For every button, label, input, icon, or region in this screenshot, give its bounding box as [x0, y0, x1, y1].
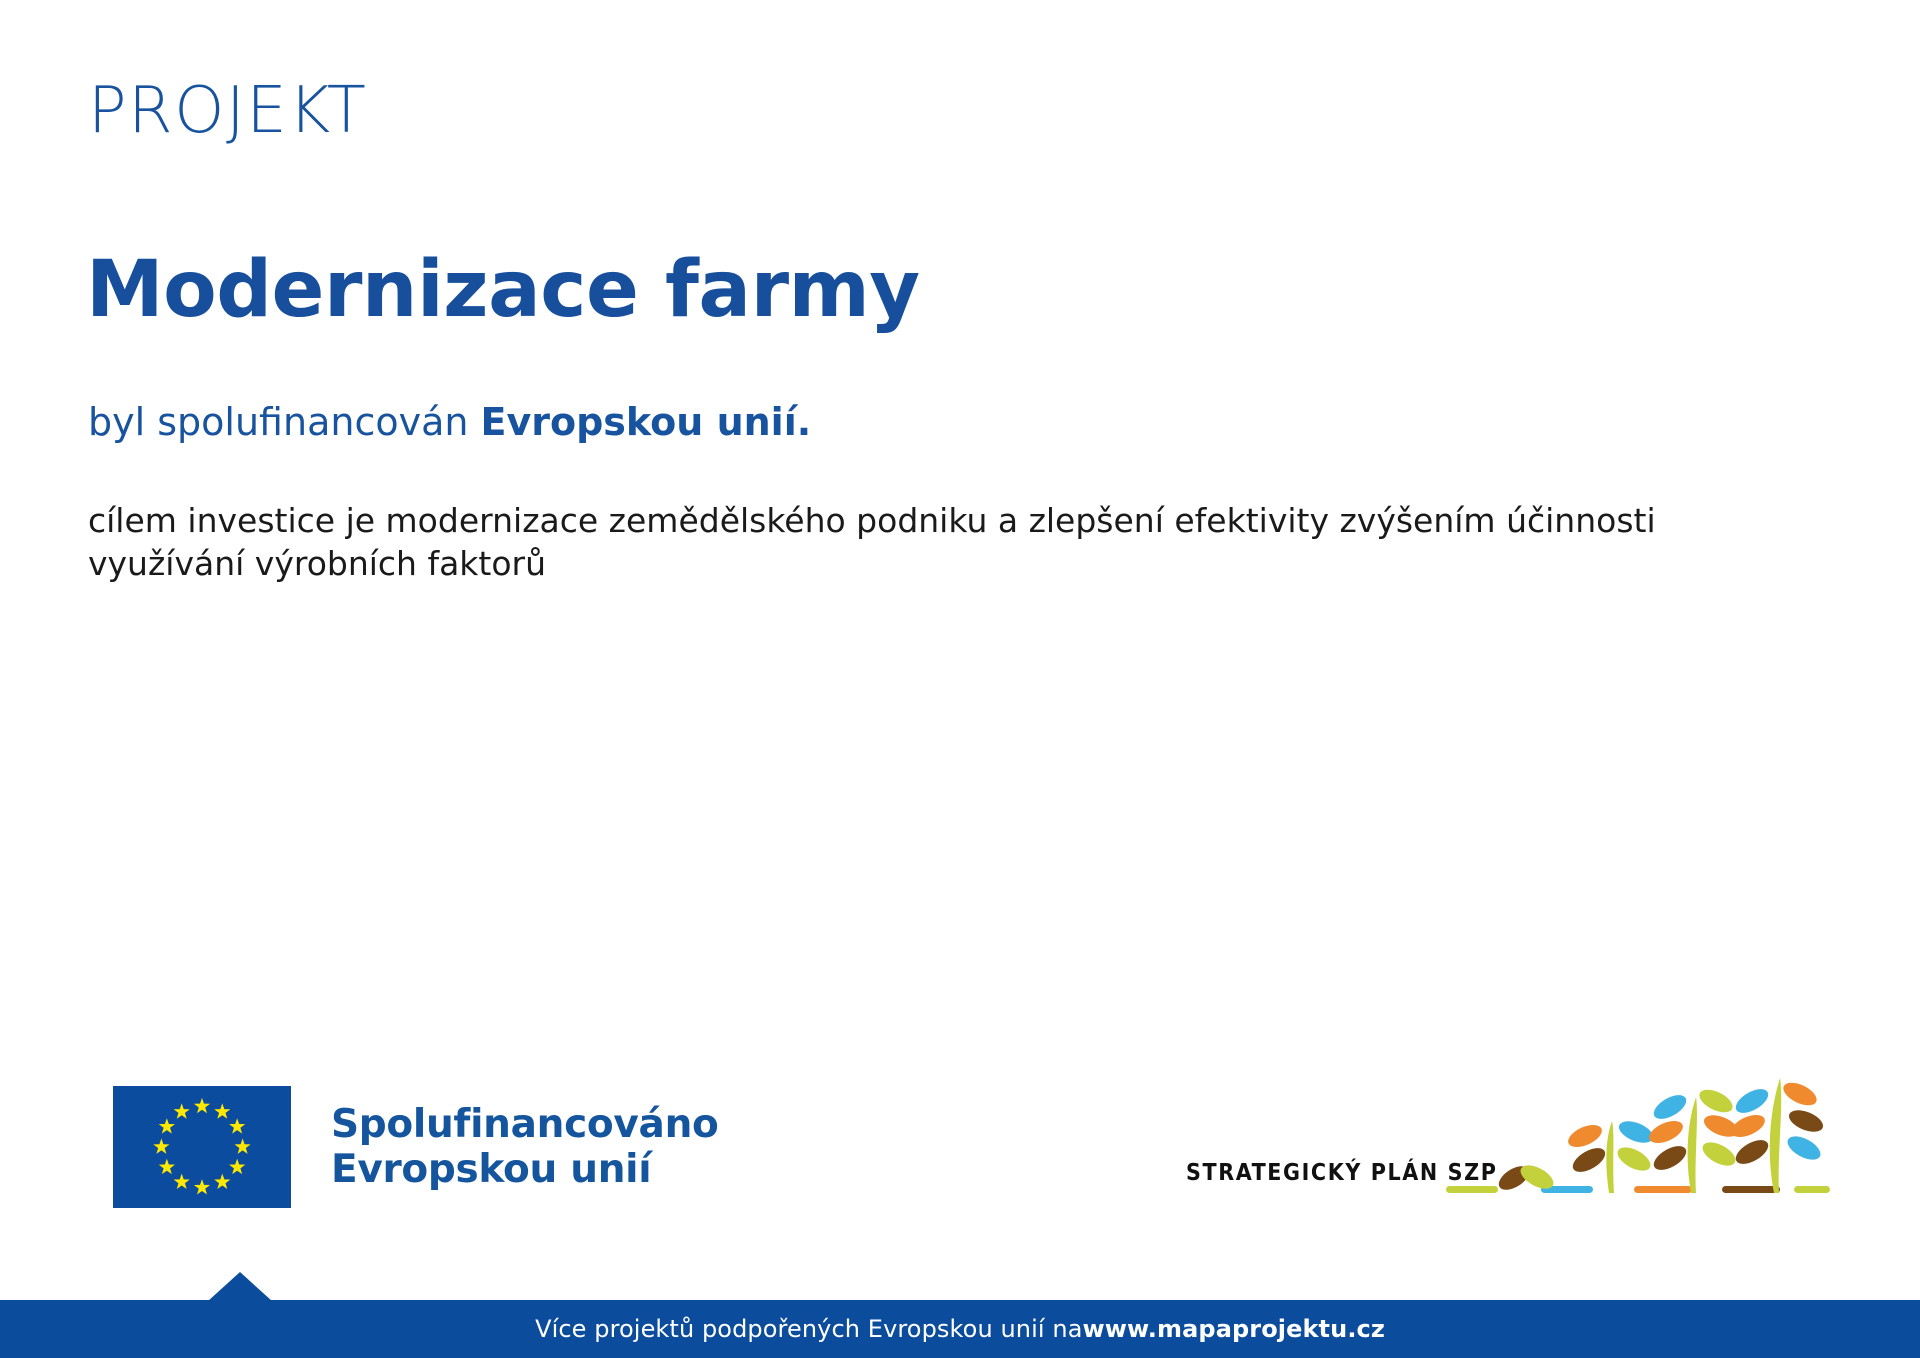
footer-message: Více projektů podpořených Evropskou unií…	[0, 1300, 1920, 1358]
footer-message-text: Více projektů podpořených Evropskou unií…	[535, 1315, 1082, 1343]
page-title: Modernizace farmy	[86, 250, 920, 332]
funding-subtitle: byl spolufinancován Evropskou unií.	[88, 400, 811, 446]
eu-wordmark-line-2: Evropskou unií	[331, 1147, 719, 1192]
eu-wordmark: Spolufinancováno Evropskou unií	[331, 1102, 719, 1192]
eu-wordmark-line-1: Spolufinancováno	[331, 1102, 719, 1147]
project-eyebrow-label: PROJEKT	[88, 78, 367, 145]
poster-canvas: PROJEKT Modernizace farmy byl spolufinan…	[0, 0, 1920, 1300]
szp-logo: STRATEGICKÝ PLÁN SZP	[1186, 1078, 1826, 1218]
footer-url-link[interactable]: www.mapaprojektu.cz	[1083, 1315, 1385, 1343]
project-description-line-1: cílem investice je modernizace zemědělsk…	[88, 500, 1848, 543]
sprout-plants-icon	[1444, 1074, 1830, 1206]
funding-subtitle-regular: byl spolufinancován	[88, 400, 481, 444]
project-description-line-2: využívání výrobních faktorů	[88, 543, 1848, 586]
footer-notch-triangle	[208, 1272, 272, 1301]
eu-flag-icon	[113, 1086, 291, 1208]
funding-subtitle-bold: Evropskou unií.	[481, 400, 812, 444]
eu-cofunding-emblem: Spolufinancováno Evropskou unií	[113, 1086, 719, 1208]
project-description: cílem investice je modernizace zemědělsk…	[88, 500, 1848, 586]
